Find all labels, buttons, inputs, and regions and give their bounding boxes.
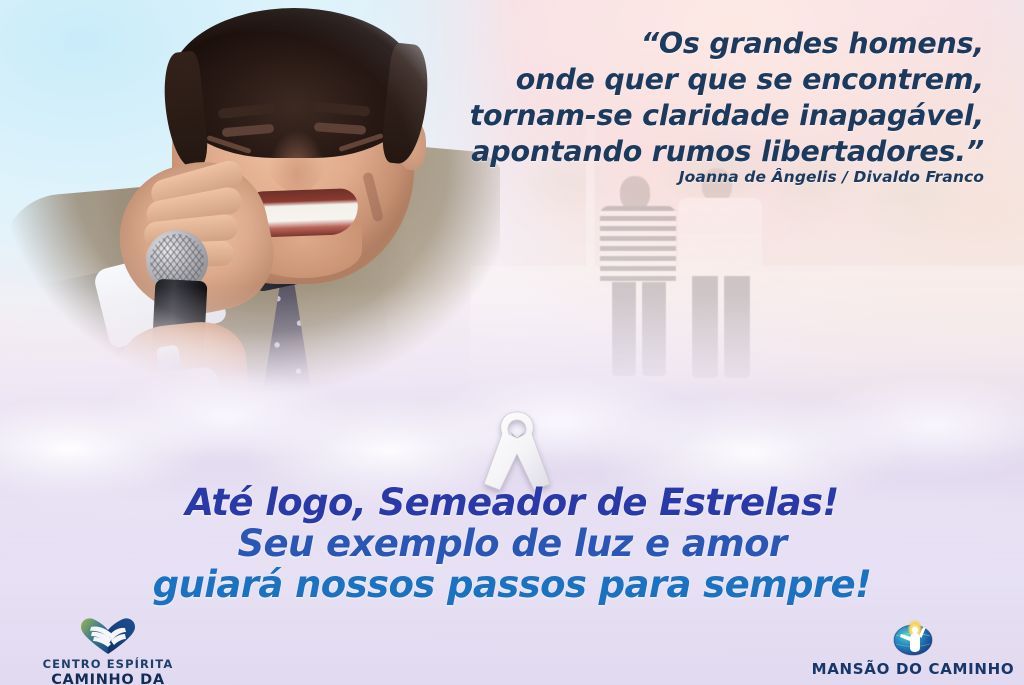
logo-left-line-1: CENTRO ESPÍRITA xyxy=(8,657,208,671)
headline: Até logo, Semeador de Estrelas! Seu exem… xyxy=(0,482,1024,605)
background-person-striped-shirt xyxy=(598,176,678,376)
quote-line-4: apontando rumos libertadores.” xyxy=(264,134,984,170)
quote-text: “Os grandes homens, onde quer que se enc… xyxy=(264,26,984,170)
mourning-ribbon-icon xyxy=(478,408,556,492)
logo-centro-espirita-caminho-da-redencao: CENTRO ESPÍRITA CAMINHO DA REDENÇÃO xyxy=(8,616,208,685)
quote-line-3: tornam-se claridade inapagável, xyxy=(264,98,984,134)
globe-figure-torch-icon xyxy=(890,616,936,658)
logo-left-line-2: CAMINHO DA REDENÇÃO xyxy=(8,672,208,685)
quote-line-1: “Os grandes homens, xyxy=(264,26,984,62)
headline-line-3: guiará nossos passos para sempre! xyxy=(0,564,1024,605)
logo-mansao-do-caminho: MANSÃO DO CAMINHO xyxy=(808,616,1018,678)
headline-line-1: Até logo, Semeador de Estrelas! xyxy=(0,482,1024,523)
heart-hands-icon xyxy=(79,616,137,656)
tribute-poster: “Os grandes homens, onde quer que se enc… xyxy=(0,0,1024,685)
quote-attribution: Joanna de Ângelis / Divaldo Franco xyxy=(264,168,984,186)
quote-line-2: onde quer que se encontrem, xyxy=(264,62,984,98)
headline-line-2: Seu exemplo de luz e amor xyxy=(0,523,1024,564)
logo-right-line-1: MANSÃO DO CAMINHO xyxy=(808,660,1018,678)
background-person-white-shirt xyxy=(678,168,764,378)
